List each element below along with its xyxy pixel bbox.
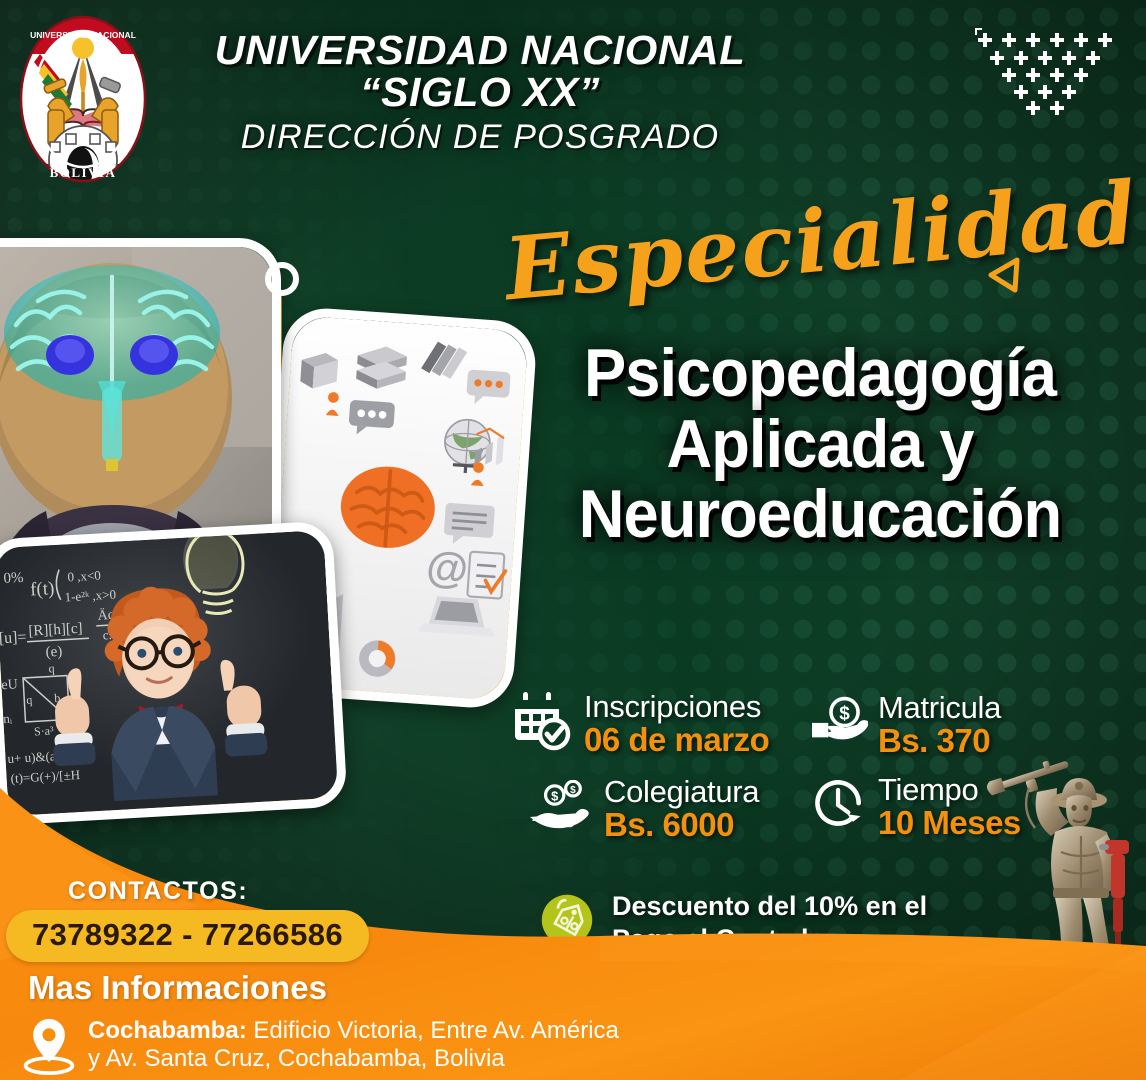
address-row: Cochabamba: Edificio Victoria, Entre Av.… — [22, 1017, 622, 1080]
poster-root: UNIVERSIDAD NACIONAL BOLIVIA UNIVERSIDAD… — [0, 0, 1146, 1080]
hero-title: Psicopedagogía Aplicada y Neuroeducación — [520, 338, 1120, 550]
hero-title-line3: Neuroeducación — [541, 479, 1099, 550]
info-label: Colegiatura — [604, 776, 759, 807]
contacts-title: CONTACTOS: — [68, 877, 248, 906]
info-item-text: Inscripciones 06 de marzo — [584, 691, 769, 756]
svg-text:0%: 0% — [3, 570, 24, 587]
header: UNIVERSIDAD NACIONAL BOLIVIA UNIVERSIDAD… — [0, 0, 1146, 190]
location-pin-icon — [22, 1017, 76, 1080]
svg-text:$: $ — [551, 789, 558, 804]
svg-text:q: q — [26, 693, 33, 707]
hand-holding-money-icon: $ $ — [530, 780, 594, 837]
department-label: DIRECCIÓN DE POSGRADO — [160, 118, 800, 157]
svg-text:S·a³: S·a³ — [34, 723, 55, 738]
miner-statue-icon — [985, 748, 1145, 1016]
university-crest-icon: UNIVERSIDAD NACIONAL BOLIVIA — [18, 14, 148, 184]
svg-text:[R][h][c]: [R][h][c] — [28, 621, 83, 640]
info-label: Inscripciones — [584, 691, 769, 722]
clock-arrow-icon — [810, 775, 868, 838]
svg-text:1-e²ᵏ ,x>0: 1-e²ᵏ ,x>0 — [64, 587, 116, 605]
svg-text:(e): (e) — [45, 644, 63, 661]
photo-collage: @ — [0, 228, 522, 698]
address-text: Cochabamba: Edificio Victoria, Entre Av.… — [88, 1017, 622, 1073]
info-item-colegiatura: $ $ Colegiatura Bs. 6000 — [530, 776, 759, 841]
hero-title-line1: Psicopedagogía — [541, 338, 1099, 409]
info-value: Bs. 6000 — [604, 808, 759, 841]
calendar-check-icon — [512, 690, 574, 757]
info-label: Matricula — [878, 692, 1001, 723]
svg-text:$: $ — [570, 785, 576, 796]
discount-line2: Pago al Contado — [612, 924, 825, 954]
svg-text:0 ,x<0: 0 ,x<0 — [67, 568, 101, 585]
hand-holding-coin-icon: $ — [812, 694, 868, 755]
address-city: Cochabamba: — [88, 1017, 247, 1044]
svg-text:q: q — [48, 661, 55, 675]
crest-bottom-text: BOLIVIA — [50, 165, 117, 180]
svg-text:eU: eU — [1, 677, 18, 693]
info-item-matricula: $ Matricula Bs. 370 — [812, 692, 1001, 757]
child-chalkboard-thumbsup-photo: 0% f(t) 0 ,x<0 1-e²ᵏ ,x>0 Äce·m̄ₑ c.ň. ℓ… — [0, 521, 348, 826]
crest-top-text: UNIVERSIDAD NACIONAL — [30, 30, 136, 40]
info-value: 06 de marzo — [584, 723, 769, 756]
phone-numbers[interactable]: 73789322 - 77266586 — [6, 910, 369, 962]
hero-title-line2: Aplicada y — [541, 409, 1099, 480]
info-value: Bs. 370 — [878, 724, 1001, 757]
discount-text: Descuento del 10% en el Pago al Contado — [612, 890, 927, 956]
more-info-label: Mas Informaciones — [28, 969, 327, 1007]
contacts-section: CONTACTOS: 73789322 - 77266586 Mas Infor… — [0, 865, 640, 1080]
discount-line1: Descuento del 10% en el — [612, 891, 927, 921]
info-item-text: Colegiatura Bs. 6000 — [604, 776, 759, 841]
svg-text:@: @ — [425, 543, 470, 594]
university-line2: “SIGLO XX” — [160, 72, 800, 114]
university-name-block: UNIVERSIDAD NACIONAL “SIGLO XX” DIRECCIÓ… — [160, 30, 800, 157]
university-line1: UNIVERSIDAD NACIONAL — [154, 30, 807, 72]
white-circle-outline-icon — [265, 262, 299, 296]
svg-text:f(t): f(t) — [30, 578, 55, 600]
plus-pattern-icon — [975, 28, 1125, 118]
info-item-inscripciones: Inscripciones 06 de marzo — [512, 690, 769, 757]
svg-text:[u]=: [u]= — [0, 629, 27, 648]
svg-text:$: $ — [839, 703, 850, 724]
info-item-text: Matricula Bs. 370 — [878, 692, 1001, 757]
